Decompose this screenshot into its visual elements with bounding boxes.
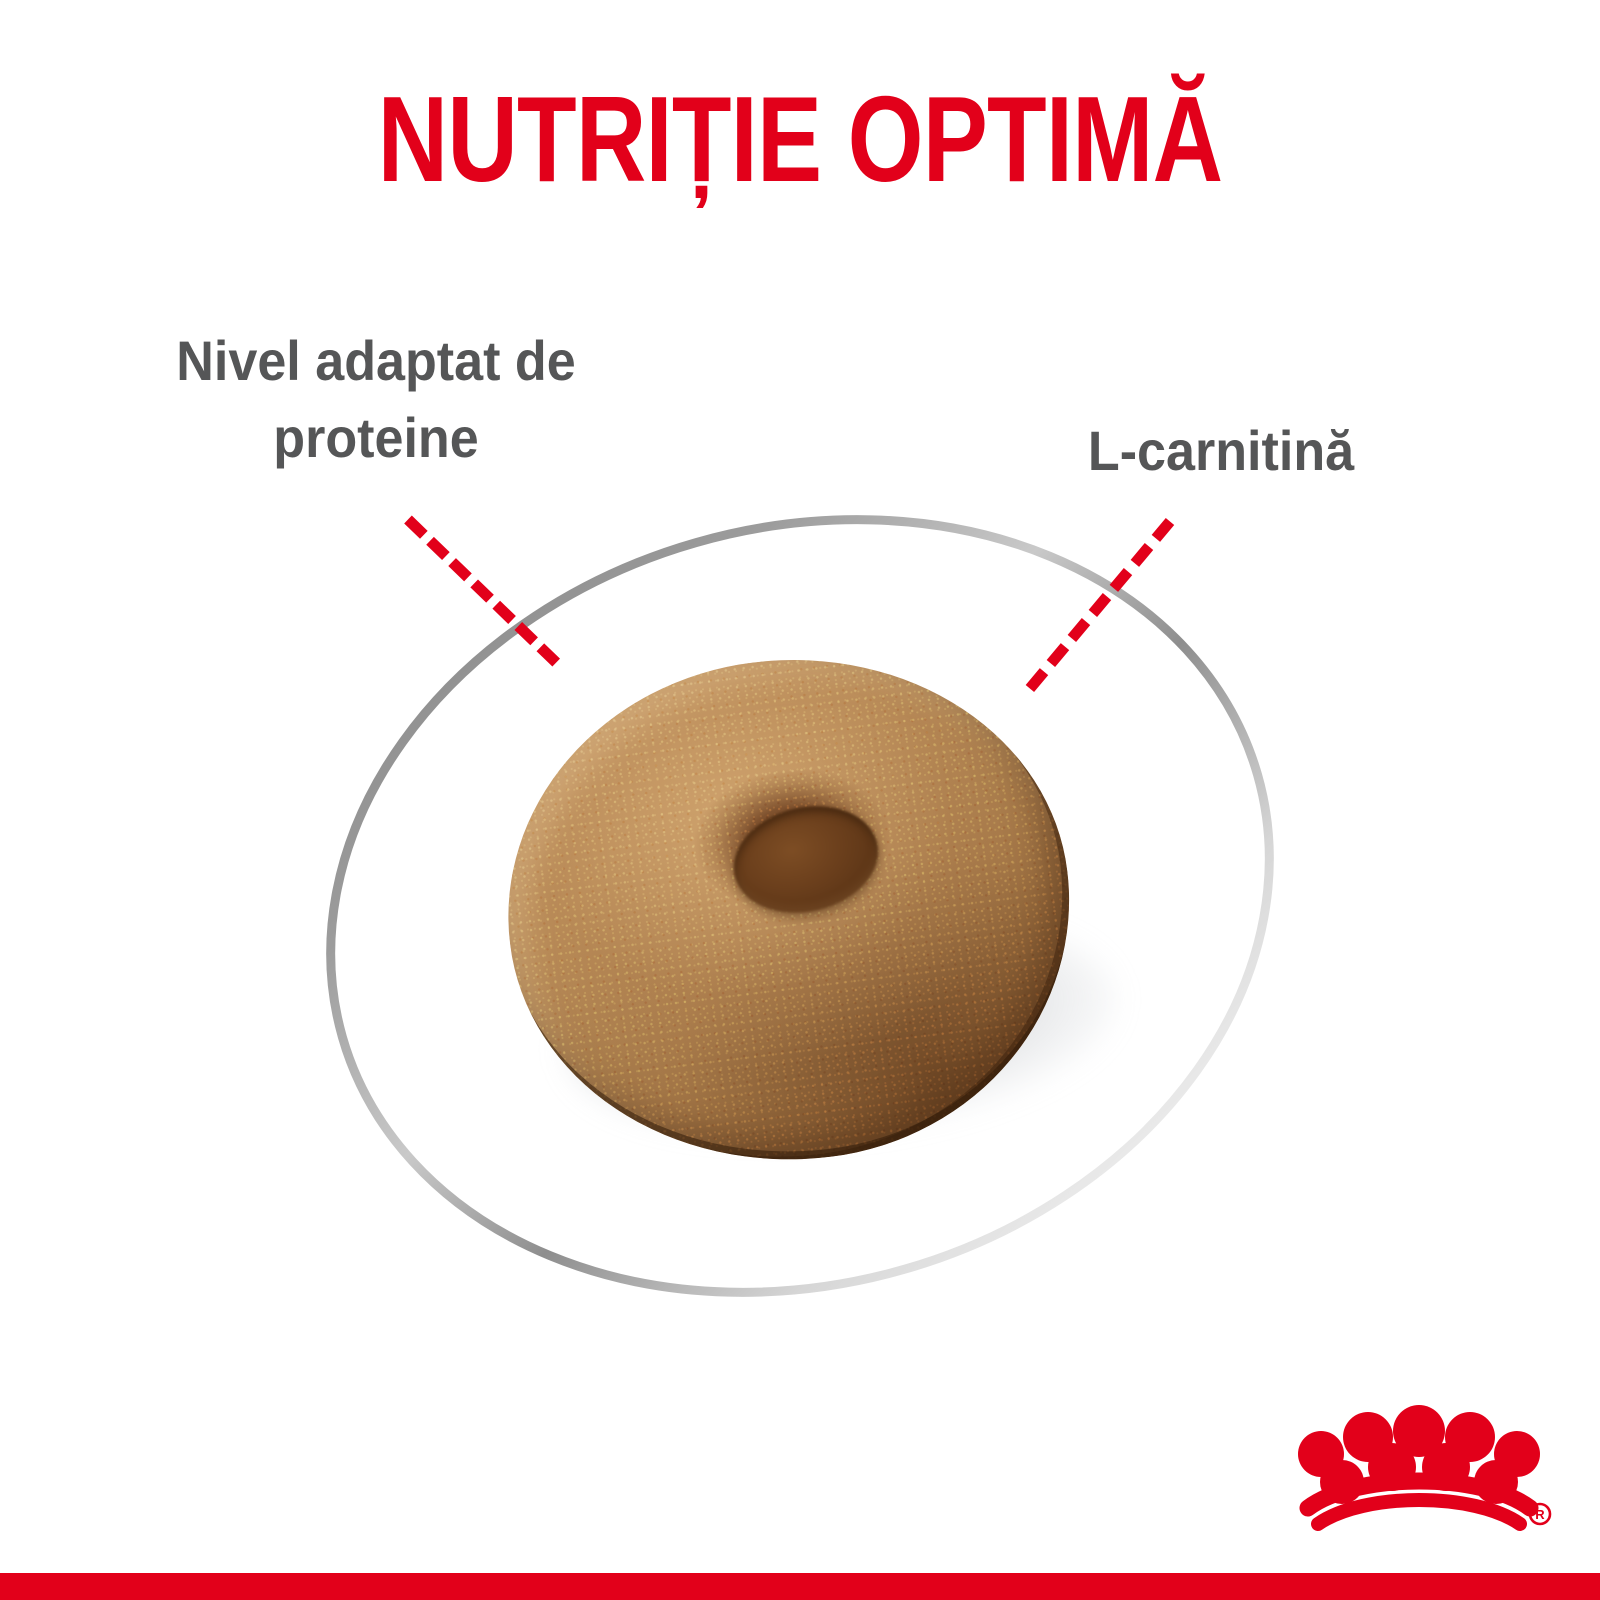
callout-label-protein: Nivel adaptat de proteine bbox=[106, 322, 645, 477]
page-title: NUTRIȚIE OPTIMĂ bbox=[160, 78, 1440, 200]
callout-label-carnitine: L-carnitină bbox=[1042, 412, 1401, 489]
product-benefit-panel: NUTRIȚIE OPTIMĂ Nivel adaptat de protein… bbox=[0, 0, 1600, 1600]
kibble-body bbox=[480, 628, 1099, 1193]
footer-accent-bar bbox=[0, 1573, 1600, 1600]
kibble-image bbox=[470, 630, 1130, 1190]
svg-text:R: R bbox=[1535, 1507, 1545, 1522]
royal-canin-crown-logo: R bbox=[1286, 1404, 1552, 1538]
